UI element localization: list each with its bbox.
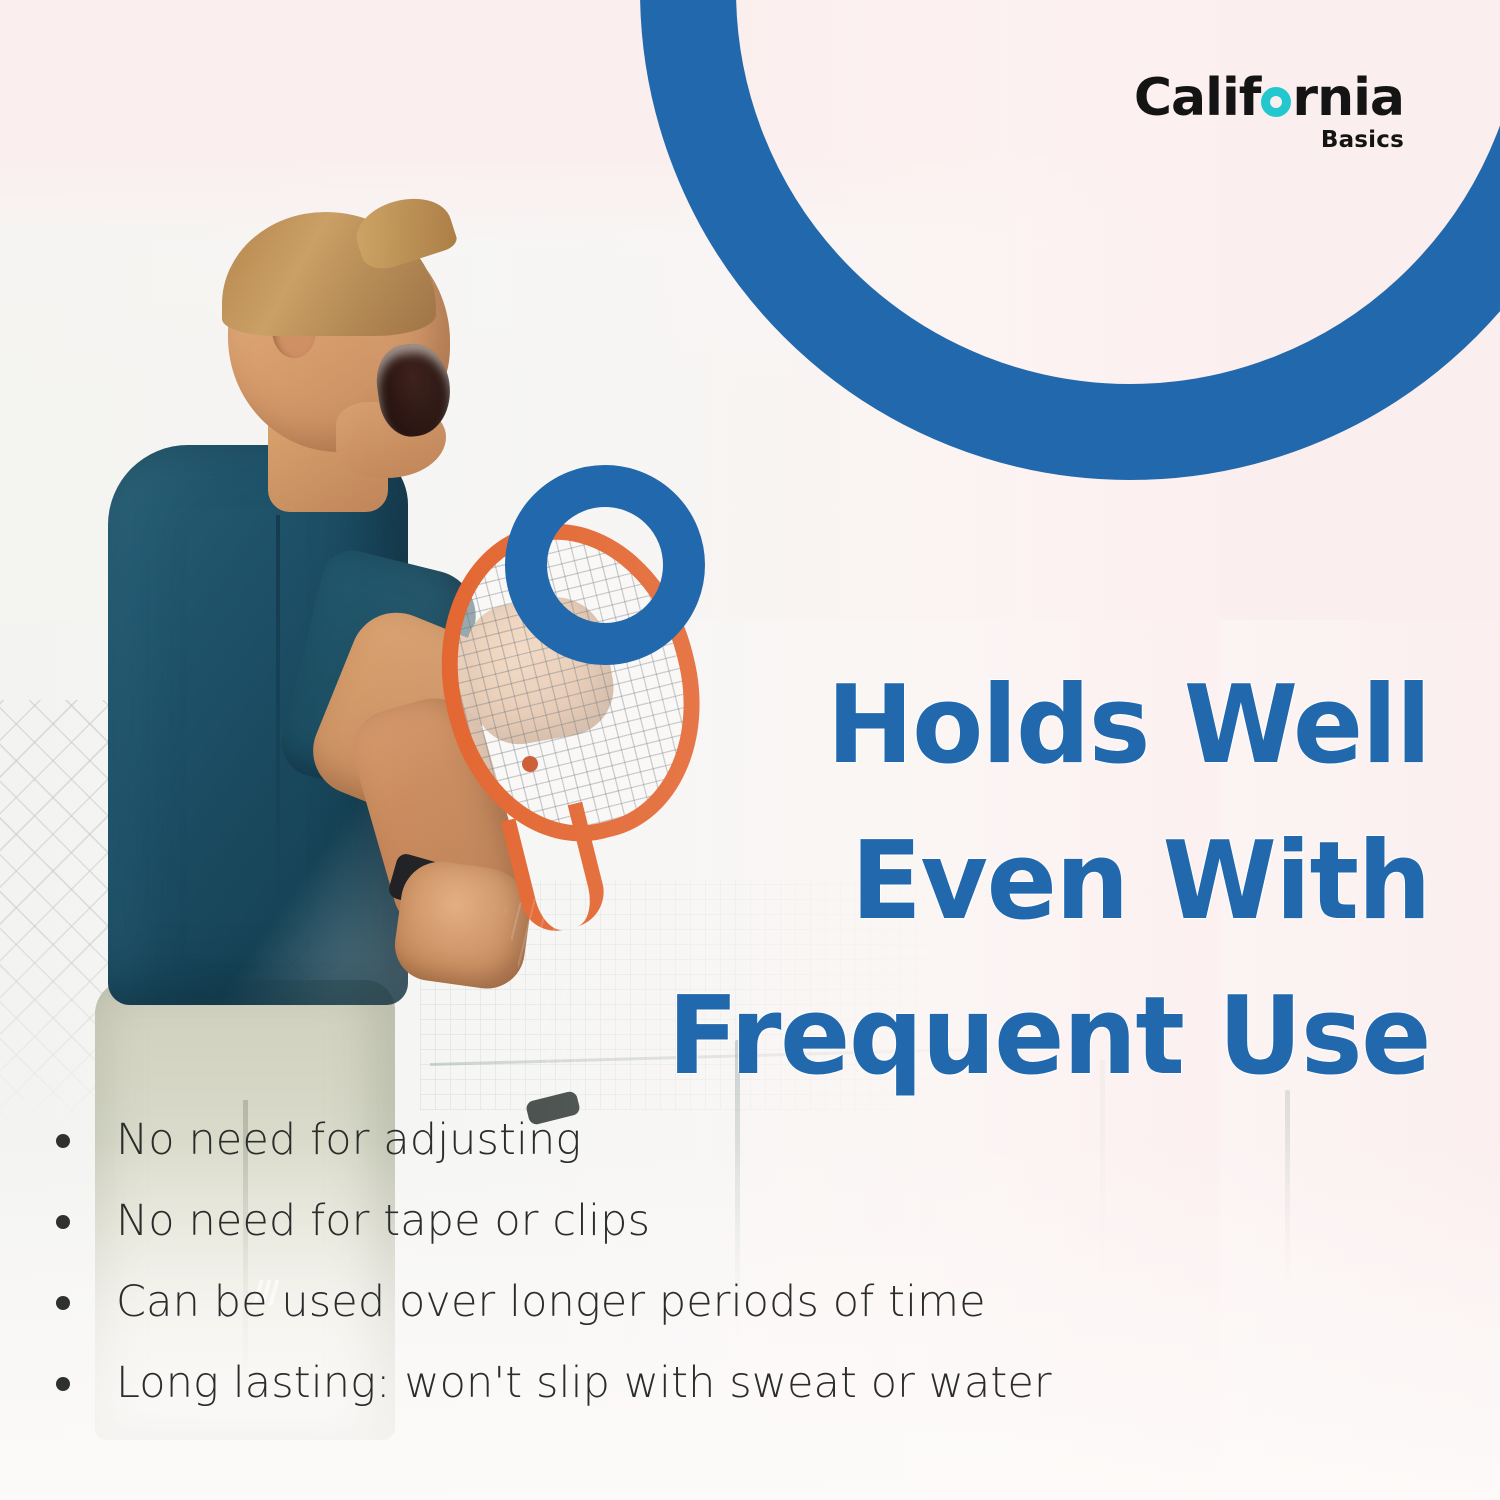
product-feature-banner: Califrnia Basics Holds Well Even With Fr…	[0, 0, 1500, 1500]
headline-line-2: Even With	[662, 804, 1430, 960]
teal-ring-o-icon	[1261, 87, 1291, 117]
list-item: No need for adjusting	[56, 1118, 1436, 1163]
bullet-dot-icon	[56, 1134, 70, 1148]
decorative-small-ring	[505, 465, 705, 665]
brand-name: Califrnia	[1134, 72, 1404, 124]
list-item: Long lasting: won't slip with sweat or w…	[56, 1361, 1436, 1406]
brand-logo: Califrnia Basics	[1134, 72, 1404, 152]
headline-line-1: Holds Well	[662, 648, 1430, 804]
brand-name-part2: rnia	[1292, 68, 1404, 128]
page-title: Holds Well Even With Frequent Use	[662, 648, 1430, 1115]
list-item-label: No need for adjusting	[116, 1118, 581, 1163]
benefits-list: No need for adjusting No need for tape o…	[56, 1118, 1436, 1443]
brand-subtitle: Basics	[1134, 129, 1404, 152]
list-item-label: No need for tape or clips	[116, 1199, 650, 1244]
list-item-label: Can be used over longer periods of time	[116, 1280, 986, 1325]
list-item: Can be used over longer periods of time	[56, 1280, 1436, 1325]
brand-name-part1: Calif	[1134, 68, 1261, 128]
bullet-dot-icon	[56, 1296, 70, 1310]
headline-line-3: Frequent Use	[662, 959, 1430, 1115]
list-item: No need for tape or clips	[56, 1199, 1436, 1244]
bullet-dot-icon	[56, 1377, 70, 1391]
bullet-dot-icon	[56, 1215, 70, 1229]
list-item-label: Long lasting: won't slip with sweat or w…	[116, 1361, 1052, 1406]
